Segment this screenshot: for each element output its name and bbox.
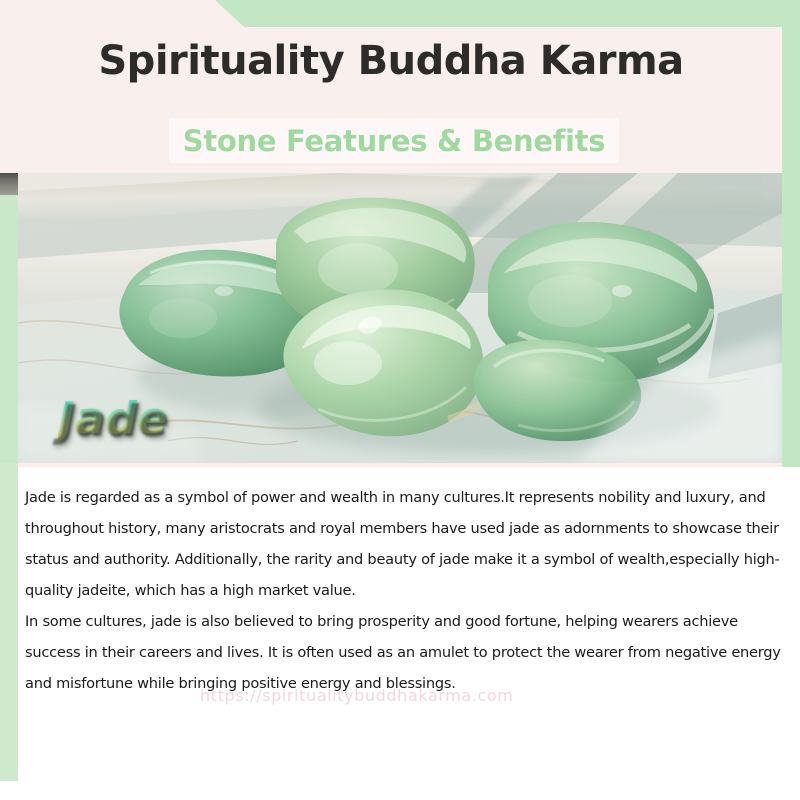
paragraph-2: In some cultures, jade is also believed … (25, 606, 793, 699)
paragraph-1: Jade is regarded as a symbol of power an… (25, 482, 793, 606)
left-green-strip-lower (0, 463, 18, 781)
infographic-page: Spirituality Buddha Karma Stone Features… (0, 0, 800, 800)
body-paragraphs: Jade is regarded as a symbol of power an… (25, 482, 793, 699)
photo-caption-jade: Jade (58, 393, 167, 444)
page-subtitle: Stone Features & Benefits (169, 119, 619, 164)
photo-edge-bleed (0, 173, 20, 195)
page-title: Spirituality Buddha Karma (0, 38, 782, 84)
